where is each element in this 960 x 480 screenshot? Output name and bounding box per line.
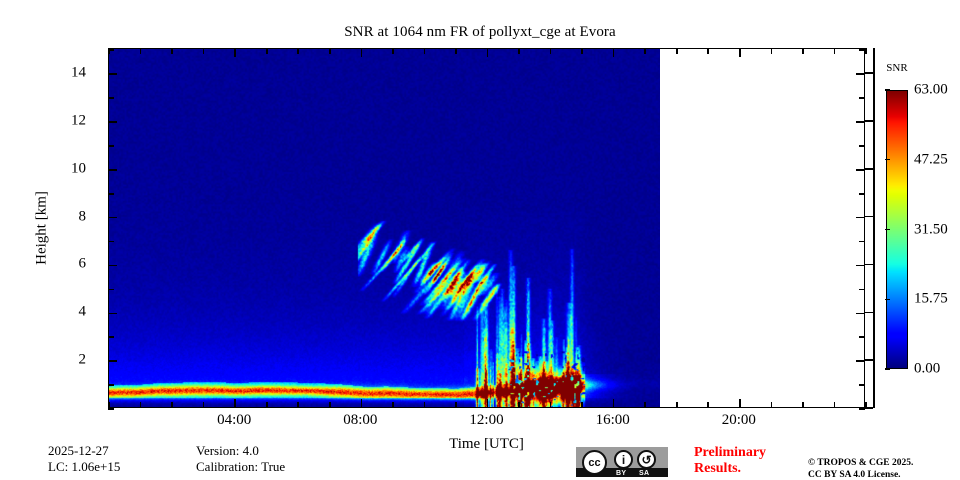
x-tick bbox=[613, 399, 615, 408]
y-tick bbox=[108, 169, 117, 171]
x-tick bbox=[739, 399, 741, 408]
x-tick-label: 04:00 bbox=[217, 412, 251, 429]
y-tick bbox=[859, 49, 865, 51]
colorbar-tick-label: 15.75 bbox=[914, 291, 948, 308]
footer-calibration: Calibration: True bbox=[196, 459, 285, 475]
x-tick-label: 20:00 bbox=[722, 412, 756, 429]
y-tick bbox=[108, 193, 114, 195]
x-tick bbox=[361, 48, 363, 57]
x-tick bbox=[234, 48, 236, 57]
x-tick bbox=[676, 48, 678, 54]
y-tick bbox=[859, 97, 865, 99]
y-tick-label: 6 bbox=[79, 256, 87, 273]
copyright-line-1: © TROPOS & CGE 2025. bbox=[808, 458, 913, 468]
copyright-line-2: CC BY SA 4.0 License. bbox=[808, 470, 901, 480]
colorbar-tick bbox=[885, 159, 890, 160]
x-tick bbox=[266, 48, 268, 54]
x-tick bbox=[613, 48, 615, 57]
x-tick bbox=[771, 402, 773, 408]
y-tick bbox=[108, 289, 114, 291]
x-tick-label: 12:00 bbox=[469, 412, 503, 429]
x-tick bbox=[424, 402, 426, 408]
x-tick bbox=[865, 48, 867, 54]
x-tick bbox=[739, 48, 741, 57]
x-tick bbox=[424, 48, 426, 54]
y-tick-label: 14 bbox=[71, 65, 86, 82]
footer-version: Version: 4.0 bbox=[196, 443, 259, 459]
preliminary-results-watermark: Preliminary Results. bbox=[694, 445, 804, 477]
x-tick bbox=[329, 402, 331, 408]
figure-spine-tick bbox=[864, 72, 873, 74]
x-tick bbox=[140, 402, 142, 408]
figure-right-spine bbox=[873, 48, 875, 408]
x-tick bbox=[802, 402, 804, 408]
figure-spine-tick bbox=[864, 407, 873, 409]
y-tick bbox=[859, 336, 865, 338]
x-tick bbox=[392, 48, 394, 54]
y-tick bbox=[859, 193, 865, 195]
heatmap-axes[interactable] bbox=[108, 48, 865, 408]
x-tick bbox=[455, 402, 457, 408]
x-tick bbox=[392, 402, 394, 408]
colorbar-tick bbox=[885, 299, 890, 300]
y-tick bbox=[108, 121, 117, 123]
colorbar-tick-label: 0.00 bbox=[914, 361, 940, 378]
x-tick bbox=[171, 48, 173, 54]
x-tick bbox=[550, 402, 552, 408]
x-tick bbox=[834, 402, 836, 408]
x-tick bbox=[487, 48, 489, 57]
x-tick bbox=[707, 48, 709, 54]
x-tick-label: 08:00 bbox=[343, 412, 377, 429]
figure-spine-tick bbox=[864, 264, 873, 266]
y-tick bbox=[108, 241, 114, 243]
colorbar-title: SNR bbox=[886, 62, 908, 74]
x-tick bbox=[550, 48, 552, 54]
y-tick bbox=[108, 265, 117, 267]
x-tick bbox=[455, 48, 457, 54]
x-tick bbox=[297, 48, 299, 54]
y-tick-label: 10 bbox=[71, 160, 86, 177]
colorbar-tick-label: 47.25 bbox=[914, 151, 948, 168]
y-tick-label: 4 bbox=[79, 304, 87, 321]
x-tick bbox=[707, 402, 709, 408]
colorbar-tick-label: 63.00 bbox=[914, 82, 948, 99]
x-tick bbox=[297, 402, 299, 408]
y-tick bbox=[108, 217, 117, 219]
figure-canvas: SNR at 1064 nm FR of pollyxt_cge at Evor… bbox=[0, 0, 960, 480]
colorbar-tick-label: 31.50 bbox=[914, 221, 948, 238]
x-tick bbox=[234, 399, 236, 408]
x-tick bbox=[802, 48, 804, 54]
x-tick bbox=[203, 402, 205, 408]
x-tick bbox=[171, 402, 173, 408]
x-tick bbox=[518, 48, 520, 54]
cc-by-label: BY bbox=[616, 470, 626, 477]
colorbar[interactable] bbox=[886, 90, 908, 369]
y-tick bbox=[108, 408, 114, 410]
x-tick bbox=[266, 402, 268, 408]
cc-icon: cc bbox=[582, 450, 607, 475]
y-tick-label: 8 bbox=[79, 208, 87, 225]
x-tick bbox=[771, 48, 773, 54]
x-tick bbox=[644, 48, 646, 54]
creative-commons-license-logo[interactable]: cc i ↺ BY SA bbox=[576, 447, 668, 477]
x-tick bbox=[140, 48, 142, 54]
figure-spine-tick bbox=[864, 168, 873, 170]
y-tick-label: 2 bbox=[79, 352, 87, 369]
x-tick bbox=[203, 48, 205, 54]
colorbar-tick bbox=[885, 368, 890, 369]
x-tick bbox=[518, 402, 520, 408]
y-tick bbox=[108, 49, 114, 51]
x-tick bbox=[361, 399, 363, 408]
figure-title: SNR at 1064 nm FR of pollyxt_cge at Evor… bbox=[0, 24, 960, 41]
footer-lidar-constant: LC: 1.06e+15 bbox=[48, 459, 120, 475]
x-tick bbox=[644, 402, 646, 408]
x-tick bbox=[487, 399, 489, 408]
figure-spine-tick bbox=[864, 216, 873, 218]
y-tick bbox=[859, 241, 865, 243]
figure-spine-tick bbox=[864, 359, 873, 361]
figure-spine-tick bbox=[864, 120, 873, 122]
x-tick bbox=[676, 402, 678, 408]
x-tick bbox=[581, 48, 583, 54]
x-tick bbox=[329, 48, 331, 54]
y-tick bbox=[108, 73, 117, 75]
y-tick bbox=[108, 145, 114, 147]
figure-spine-tick bbox=[864, 312, 873, 314]
heatmap-plot-area[interactable] bbox=[109, 49, 864, 407]
colorbar-tick bbox=[885, 229, 890, 230]
y-tick bbox=[108, 360, 117, 362]
y-tick bbox=[108, 313, 117, 315]
y-tick bbox=[859, 384, 865, 386]
y-tick bbox=[108, 97, 114, 99]
cc-by-icon: i bbox=[614, 450, 633, 469]
y-tick bbox=[108, 384, 114, 386]
x-tick bbox=[108, 402, 110, 408]
y-tick-label: 12 bbox=[71, 112, 86, 129]
heatmap-image bbox=[109, 49, 660, 407]
colorbar-tick bbox=[885, 89, 890, 90]
y-tick bbox=[859, 289, 865, 291]
footer-date: 2025-12-27 bbox=[48, 443, 109, 459]
x-tick bbox=[581, 402, 583, 408]
cc-sa-label: SA bbox=[639, 470, 649, 477]
x-tick bbox=[834, 48, 836, 54]
x-tick-label: 16:00 bbox=[596, 412, 630, 429]
y-tick bbox=[108, 336, 114, 338]
y-tick bbox=[859, 145, 865, 147]
cc-sa-icon: ↺ bbox=[637, 450, 656, 469]
y-axis-title: Height [km] bbox=[34, 191, 51, 265]
